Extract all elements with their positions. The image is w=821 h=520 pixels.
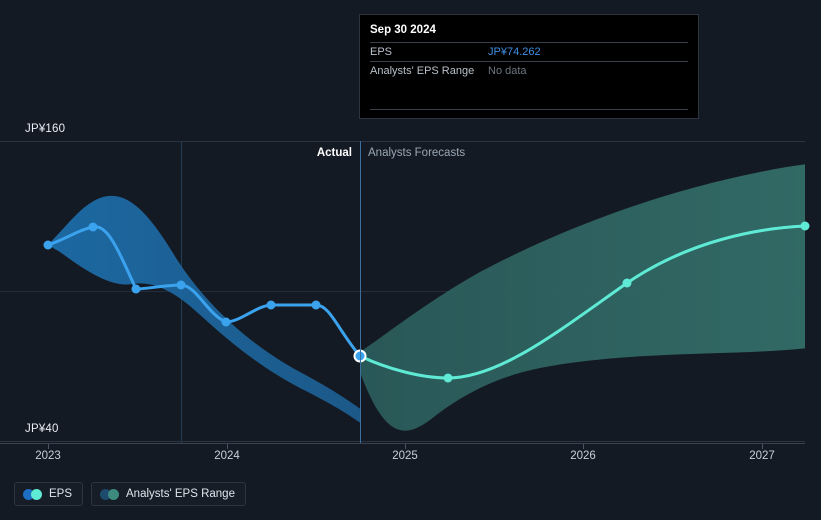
tooltip-footer-divider [370, 109, 688, 110]
data-point[interactable] [222, 318, 231, 327]
legend-swatch-range-icon [100, 489, 119, 500]
eps-chart-widget: JP¥160 JP¥40 Actual Analysts Forecasts [0, 0, 821, 520]
x-axis-label-2024: 2024 [214, 450, 240, 462]
band-forecast-range [360, 164, 808, 431]
tooltip-title: Sep 30 2024 [370, 23, 688, 42]
legend-label-eps: EPS [49, 488, 72, 500]
legend-label-eps-range: Analysts' EPS Range [126, 488, 235, 500]
x-tick-2025 [405, 444, 406, 449]
data-point[interactable] [44, 241, 53, 250]
tooltip-row-eps: EPS JP¥74.262 [370, 42, 688, 61]
x-tick-2024 [227, 444, 228, 449]
tooltip-key-eps: EPS [370, 46, 488, 58]
data-point[interactable] [444, 374, 453, 383]
data-point[interactable] [801, 222, 810, 231]
data-point[interactable] [132, 285, 141, 294]
x-axis-label-2025: 2025 [392, 450, 418, 462]
data-point[interactable] [623, 279, 632, 288]
tooltip-value-eps: JP¥74.262 [488, 46, 541, 58]
x-axis-label-2027: 2027 [749, 450, 775, 462]
tooltip-key-range: Analysts' EPS Range [370, 65, 488, 77]
data-point[interactable] [89, 223, 98, 232]
data-point[interactable] [312, 301, 321, 310]
legend-item-eps-range[interactable]: Analysts' EPS Range [91, 482, 246, 506]
data-point[interactable] [177, 281, 186, 290]
tooltip-value-range: No data [488, 65, 527, 77]
actual-forecast-divider [360, 141, 361, 443]
x-tick-2023 [48, 444, 49, 449]
chart-tooltip: Sep 30 2024 EPS JP¥74.262 Analysts' EPS … [359, 14, 699, 119]
x-tick-2026 [583, 444, 584, 449]
legend-swatch-eps-icon [23, 489, 42, 500]
x-axis-label-2023: 2023 [35, 450, 61, 462]
x-axis-line [0, 443, 805, 444]
x-axis-label-2026: 2026 [570, 450, 596, 462]
tooltip-row-range: Analysts' EPS Range No data [370, 61, 688, 80]
chart-legend: EPS Analysts' EPS Range [14, 482, 246, 506]
data-point[interactable] [267, 301, 276, 310]
legend-item-eps[interactable]: EPS [14, 482, 83, 506]
x-tick-2027 [762, 444, 763, 449]
